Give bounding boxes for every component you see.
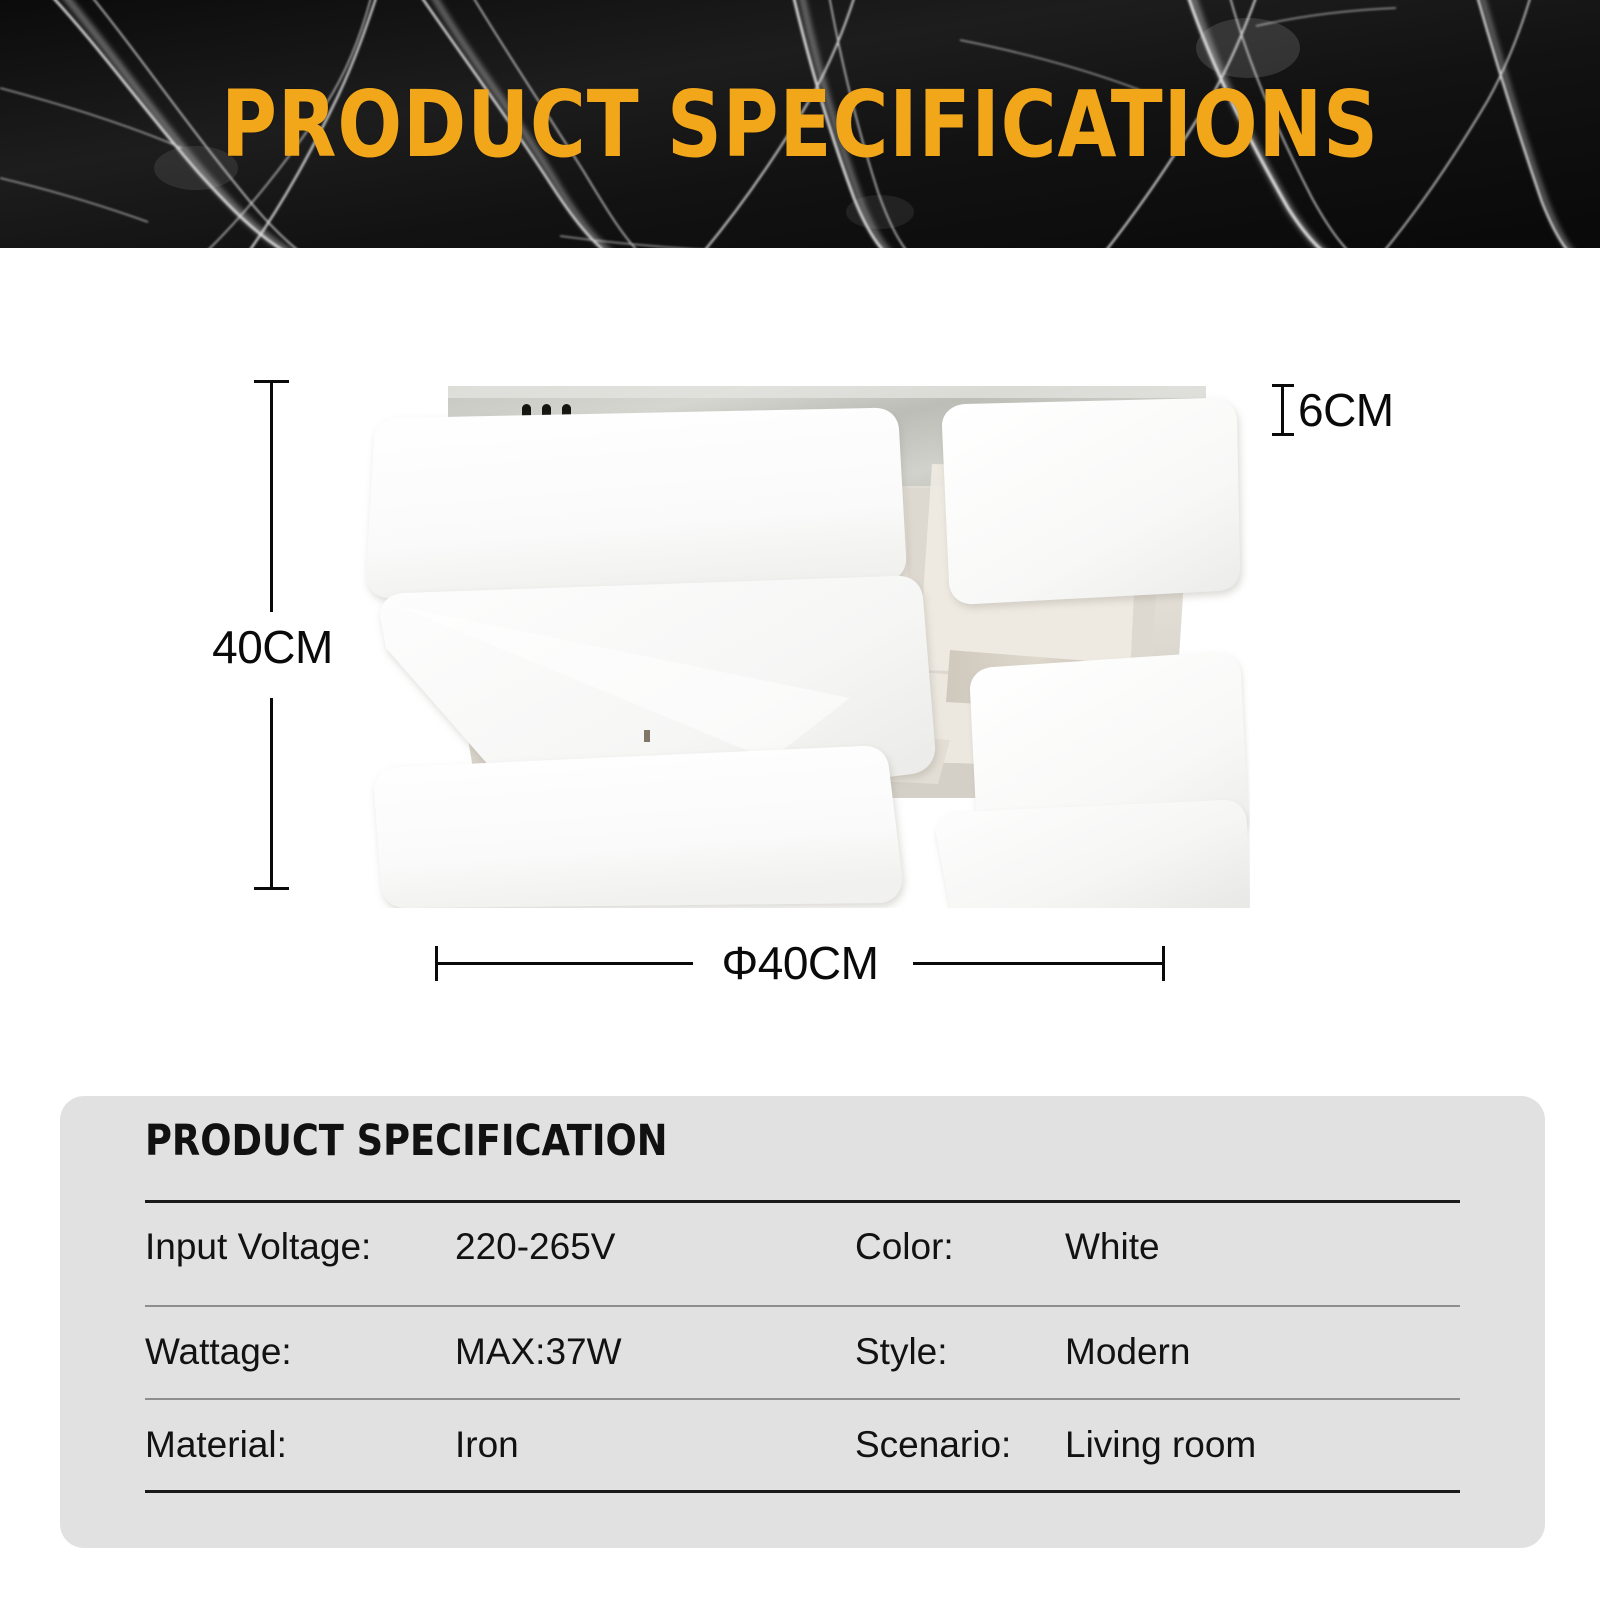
header-banner: PRODUCT SPECIFICATIONS [0, 0, 1600, 248]
width-dimension: Φ40CM [435, 938, 1165, 988]
height-dimension: 40CM [248, 380, 296, 890]
spec-value-scenario: Living room [1065, 1399, 1256, 1491]
lamp-bottom-fastener [644, 730, 650, 742]
depth-dimension-ibeam-icon [1272, 384, 1294, 436]
depth-dimension-label: 6CM [1298, 383, 1394, 437]
spec-label-input-voltage: Input Voltage: [145, 1201, 371, 1293]
width-dimension-cap-right [1162, 946, 1165, 981]
lamp-panel-top-right [942, 398, 1240, 604]
spec-value-color: White [1065, 1201, 1160, 1293]
lamp-panel-bottom-left [374, 746, 902, 908]
height-dimension-line-lower [270, 698, 273, 887]
depth-dimension: 6CM [1272, 383, 1394, 437]
spec-value-input-voltage: 220-265V [455, 1201, 615, 1293]
product-image-section: 40CM Φ40CM 6CM [0, 248, 1600, 1038]
specification-card: PRODUCT SPECIFICATION Input Voltage: 220… [60, 1096, 1545, 1548]
spec-value-wattage: MAX:37W [455, 1306, 622, 1398]
spec-card-title: PRODUCT SPECIFICATION [145, 1116, 668, 1166]
spec-value-style: Modern [1065, 1306, 1190, 1398]
lamp-panel-top-left [366, 408, 906, 598]
spec-label-wattage: Wattage: [145, 1306, 292, 1398]
width-dimension-line-right [913, 962, 1162, 965]
spec-divider-bottom [145, 1490, 1460, 1493]
spec-label-scenario: Scenario: [855, 1399, 1011, 1491]
height-dimension-label: 40CM [190, 620, 355, 674]
spec-value-material: Iron [455, 1399, 519, 1491]
banner-title: PRODUCT SPECIFICATIONS [64, 0, 1536, 248]
spec-label-material: Material: [145, 1399, 287, 1491]
height-dimension-line-upper [270, 380, 273, 612]
lamp-panel-bottom-right [936, 800, 1250, 908]
spec-row-2: Wattage: MAX:37W Style: Modern [60, 1306, 1545, 1398]
lamp-product-image [350, 368, 1250, 908]
height-dimension-cap-bottom [254, 887, 289, 890]
spec-row-1: Input Voltage: 220-265V Color: White [60, 1201, 1545, 1293]
spec-row-3: Material: Iron Scenario: Living room [60, 1399, 1545, 1491]
spec-label-color: Color: [855, 1201, 954, 1293]
spec-label-style: Style: [855, 1306, 948, 1398]
